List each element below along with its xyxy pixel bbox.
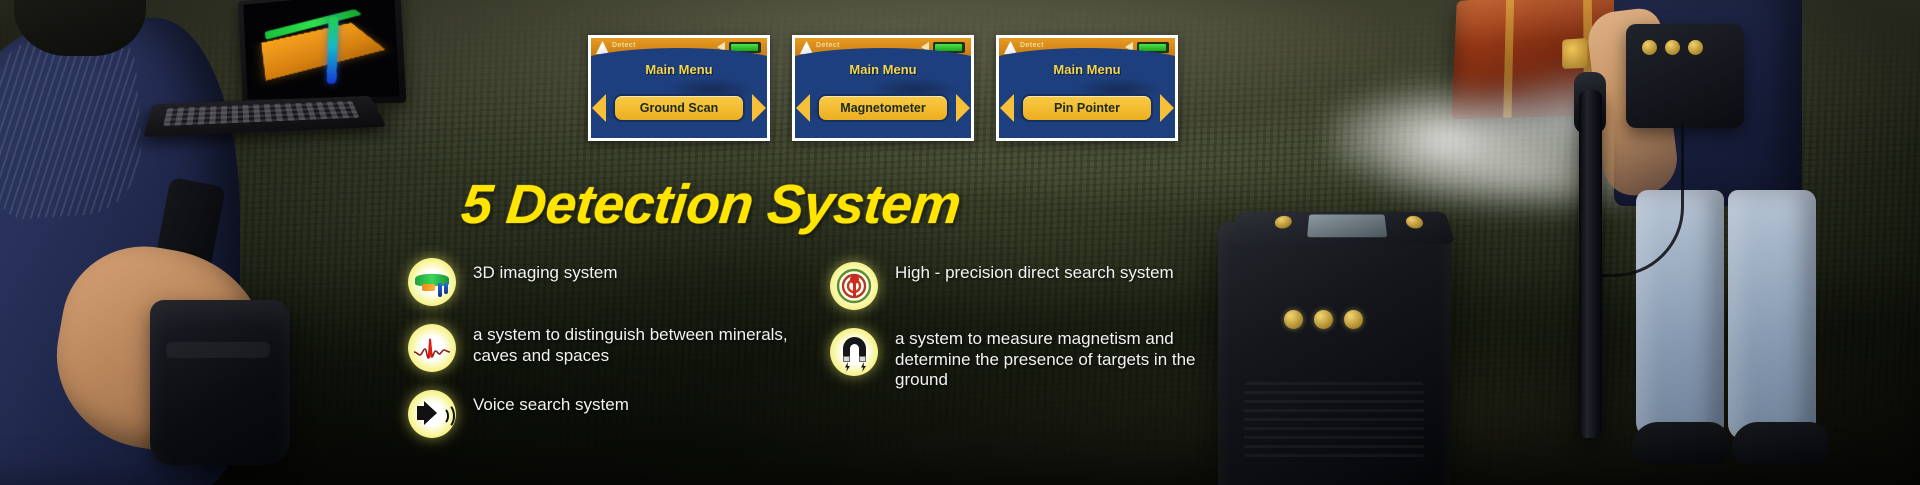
speaker-icon bbox=[921, 42, 929, 52]
menu-selector-row: Pin Pointer bbox=[999, 94, 1175, 122]
knob-icon bbox=[1665, 40, 1680, 55]
prev-arrow-icon[interactable] bbox=[592, 94, 606, 122]
menu-mode-button[interactable]: Ground Scan bbox=[613, 94, 745, 122]
speaker-icon bbox=[1125, 42, 1133, 52]
laptop-device bbox=[150, 0, 398, 144]
device-menu-screens: Detect Main Menu Ground Scan Detect Main… bbox=[588, 35, 1178, 141]
menu-title: Main Menu bbox=[999, 62, 1175, 77]
signal-antenna-icon bbox=[830, 262, 878, 310]
menu-screen-magnetometer[interactable]: Detect Main Menu Magnetometer bbox=[792, 35, 974, 141]
control-pouch bbox=[1626, 24, 1744, 128]
laptop-keys bbox=[163, 101, 359, 126]
operator-shoe-left bbox=[1632, 422, 1728, 464]
battery-icon bbox=[933, 42, 965, 53]
detector-knobs bbox=[1284, 310, 1363, 329]
feature-item-mineral-discrimination: a system to distinguish between minerals… bbox=[408, 324, 808, 372]
knob-icon bbox=[1284, 310, 1303, 329]
feature-list-right: High - precision direct search system a … bbox=[830, 262, 1250, 409]
menu-status-bar: Detect bbox=[999, 38, 1175, 57]
menu-status-bar: Detect bbox=[795, 38, 971, 57]
gold-port-icon bbox=[1405, 216, 1424, 229]
pouch-knobs bbox=[1642, 40, 1703, 55]
feature-item-3d-imaging: 3D imaging system bbox=[408, 258, 808, 306]
brand-logo-icon bbox=[596, 41, 609, 54]
menu-mode-button[interactable]: Pin Pointer bbox=[1021, 94, 1153, 122]
feature-label: a system to measure magnetism and determ… bbox=[895, 328, 1250, 391]
3d-terrain-icon bbox=[408, 258, 456, 306]
detector-main-unit bbox=[1218, 222, 1450, 485]
detector-top-panel bbox=[1229, 212, 1455, 244]
right-photo-scene bbox=[1220, 0, 1920, 485]
scan-3d-target-spike-icon bbox=[327, 16, 339, 83]
brand-logo-label: Detect bbox=[1020, 42, 1044, 49]
menu-status-bar: Detect bbox=[591, 38, 767, 57]
feature-label: Voice search system bbox=[473, 390, 629, 416]
feature-list-left: 3D imaging system a system to distinguis… bbox=[408, 258, 808, 456]
knob-icon bbox=[1314, 310, 1333, 329]
feature-label: a system to distinguish between minerals… bbox=[473, 324, 808, 366]
menu-screen-pin-pointer[interactable]: Detect Main Menu Pin Pointer bbox=[996, 35, 1178, 141]
brand-logo-label: Detect bbox=[816, 42, 840, 49]
feature-item-direct-search: High - precision direct search system bbox=[830, 262, 1250, 310]
menu-mode-button[interactable]: Magnetometer bbox=[817, 94, 949, 122]
horseshoe-magnet-icon bbox=[830, 328, 878, 376]
waveform-pulse-icon bbox=[408, 324, 456, 372]
knob-icon bbox=[1344, 310, 1363, 329]
feature-item-magnetism: a system to measure magnetism and determ… bbox=[830, 328, 1250, 391]
waveform-path bbox=[413, 336, 451, 360]
feature-label: High - precision direct search system bbox=[895, 262, 1174, 284]
battery-icon bbox=[1137, 42, 1169, 53]
laptop-keyboard-base bbox=[143, 96, 386, 137]
detector-vent-ridges bbox=[1244, 382, 1424, 458]
menu-screen-ground-scan[interactable]: Detect Main Menu Ground Scan bbox=[588, 35, 770, 141]
speaker-sound-icon bbox=[408, 390, 456, 438]
feature-item-voice-search: Voice search system bbox=[408, 390, 808, 438]
laptop-lid bbox=[238, 0, 406, 105]
next-arrow-icon[interactable] bbox=[1160, 94, 1174, 122]
battery-icon bbox=[729, 42, 761, 53]
next-arrow-icon[interactable] bbox=[752, 94, 766, 122]
laptop-screen bbox=[243, 0, 399, 99]
left-photo-scene bbox=[0, 0, 400, 485]
next-arrow-icon[interactable] bbox=[956, 94, 970, 122]
prev-arrow-icon[interactable] bbox=[1000, 94, 1014, 122]
feature-label: 3D imaging system bbox=[473, 258, 618, 284]
equipment-bag bbox=[150, 300, 290, 465]
menu-selector-row: Magnetometer bbox=[795, 94, 971, 122]
brand-logo-icon bbox=[1004, 41, 1017, 54]
brand-logo-label: Detect bbox=[612, 42, 636, 49]
menu-title: Main Menu bbox=[795, 62, 971, 77]
probe-shaft bbox=[1579, 90, 1602, 438]
gold-port-icon bbox=[1274, 216, 1293, 229]
shirt-seam bbox=[0, 31, 146, 221]
menu-title: Main Menu bbox=[591, 62, 767, 77]
operator-right-leg-right bbox=[1728, 190, 1816, 440]
menu-selector-row: Ground Scan bbox=[591, 94, 767, 122]
brand-logo-icon bbox=[800, 41, 813, 54]
knob-icon bbox=[1642, 40, 1657, 55]
product-hero-banner: Detect Main Menu Ground Scan Detect Main… bbox=[0, 0, 1920, 485]
operator-shoe-right bbox=[1732, 422, 1828, 464]
prev-arrow-icon[interactable] bbox=[796, 94, 810, 122]
page-title: 5 Detection System bbox=[459, 172, 964, 236]
detector-display bbox=[1307, 214, 1387, 237]
knob-icon bbox=[1688, 40, 1703, 55]
speaker-icon bbox=[717, 42, 725, 52]
